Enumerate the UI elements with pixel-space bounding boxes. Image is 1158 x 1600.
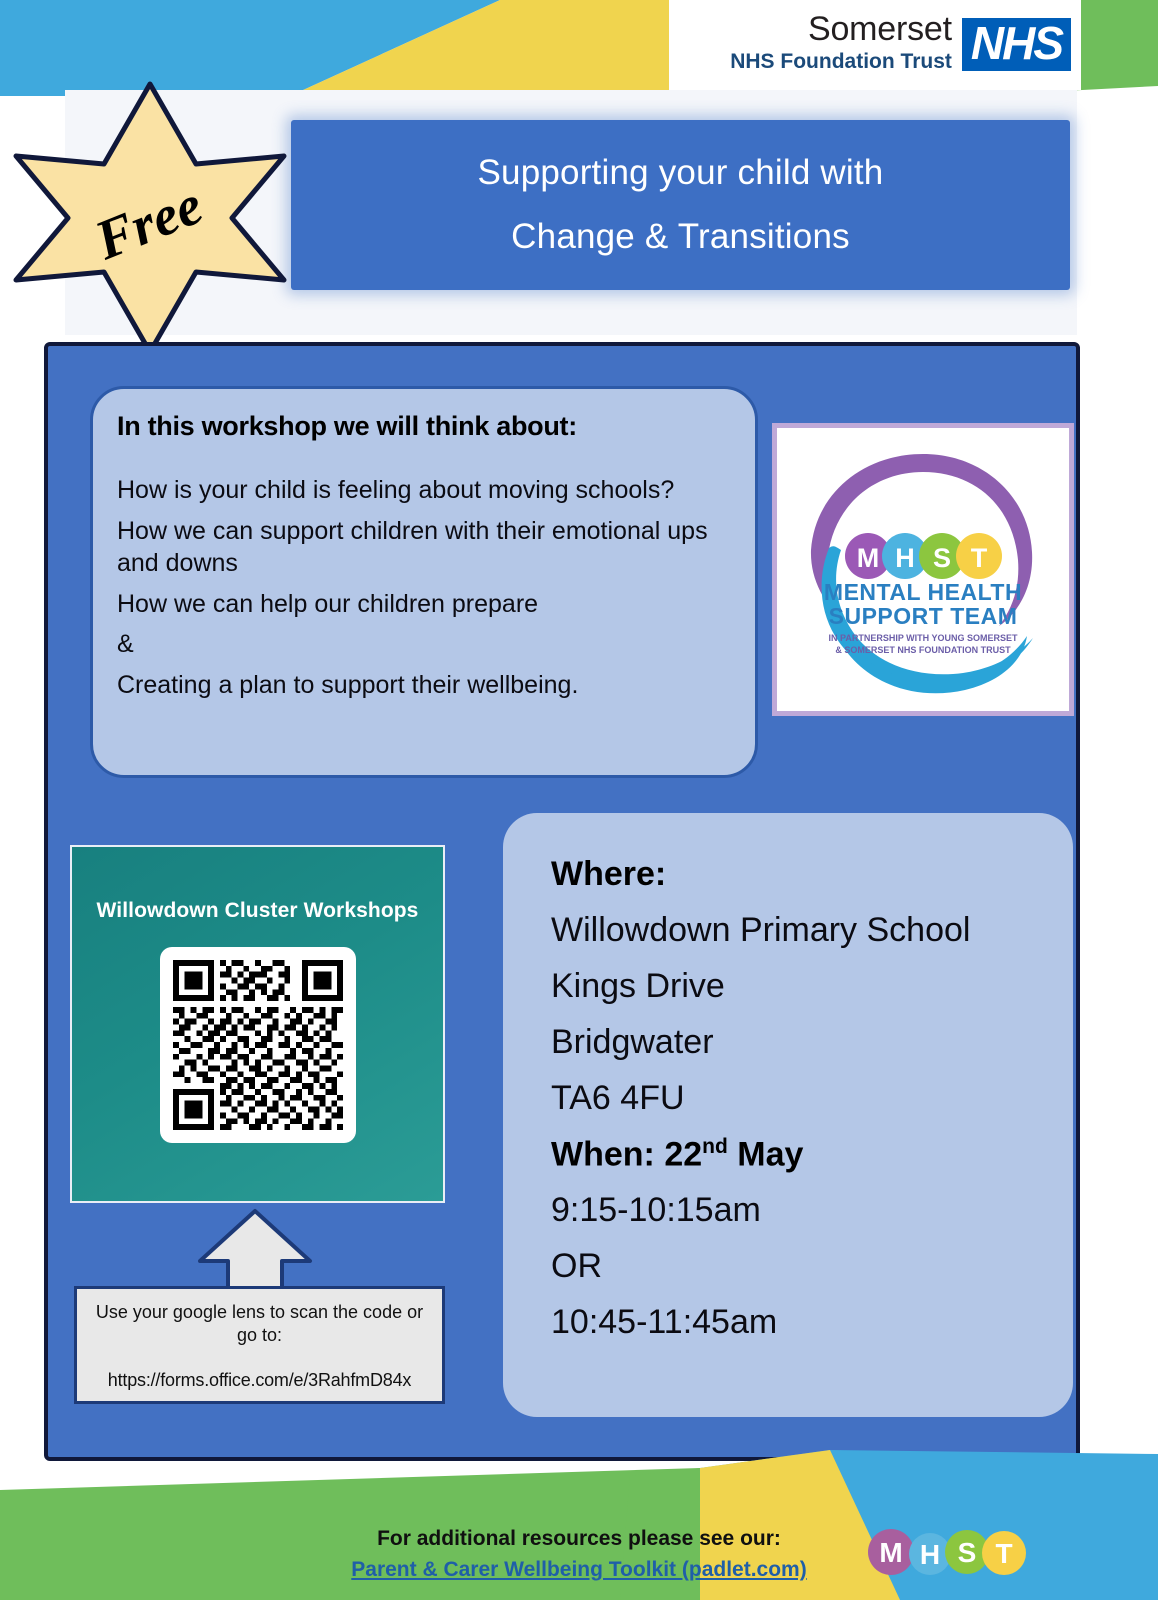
poster-title-banner: Supporting your child with Change & Tran… [291,120,1070,290]
workshop-topics-card: In this workshop we will think about: Ho… [90,386,758,778]
svg-text:& SOMERSET NHS FOUNDATION TRUS: & SOMERSET NHS FOUNDATION TRUST [835,645,1011,655]
svg-text:S: S [958,1537,977,1568]
where-when-card: Where: Willowdown Primary School Kings D… [503,813,1073,1417]
svg-text:H: H [895,543,915,573]
qr-code-image[interactable] [160,947,356,1143]
padlet-toolkit-link[interactable]: Parent & Carer Wellbeing Toolkit (padlet… [351,1558,806,1582]
qr-panel-caption: Willowdown Cluster Workshops [72,899,443,923]
venue-postcode: TA6 4FU [551,1079,1073,1118]
form-url[interactable]: https://forms.office.com/e/3RahfmD84x [91,1370,428,1391]
venue-name: Willowdown Primary School [551,911,1073,950]
svg-text:S: S [933,543,951,573]
svg-text:IN PARTNERSHIP WITH YOUNG SOME: IN PARTNERSHIP WITH YOUNG SOMERSET [828,633,1018,643]
workshop-line: Creating a plan to support their wellbei… [117,669,729,702]
qr-code-panel: Willowdown Cluster Workshops [70,845,445,1203]
when-ordinal: nd [702,1135,728,1158]
workshop-heading: In this workshop we will think about: [117,411,729,442]
free-badge: Free [10,78,290,358]
title-line-1: Supporting your child with [478,153,884,193]
when-label: When: [551,1135,655,1173]
nhs-logo: Somerset NHS Foundation Trust NHS [669,0,1081,90]
workshop-line: How is your child is feeling about movin… [117,474,729,507]
svg-text:H: H [920,1539,940,1570]
qr-code-icon [173,960,343,1130]
svg-text:T: T [971,543,988,573]
venue-street: Kings Drive [551,967,1073,1006]
nhs-somerset-text: Somerset [730,12,952,46]
mhst-logo-icon: M H S T MENTAL HEALTH SUPPORT TEAM IN PA… [777,428,1069,711]
scan-instruction-box: Use your google lens to scan the code or… [74,1286,445,1404]
scan-instruction-line-1: Use your google lens to scan the code or [91,1301,428,1324]
nhs-wordmark: NHS [962,18,1071,71]
workshop-line: & [117,628,729,661]
session-time-1: 9:15-10:15am [551,1191,1073,1230]
nhs-trust-text: NHS Foundation Trust [730,49,952,75]
where-label: Where: [551,855,1073,894]
venue-town: Bridgwater [551,1023,1073,1062]
svg-text:T: T [995,1538,1012,1569]
session-or-label: OR [551,1247,1073,1286]
svg-text:M: M [857,543,880,573]
when-month: May [737,1135,803,1173]
session-time-2: 10:45-11:45am [551,1303,1073,1342]
mhst-logo-card: M H S T MENTAL HEALTH SUPPORT TEAM IN PA… [772,423,1074,716]
svg-text:MENTAL HEALTH: MENTAL HEALTH [824,579,1022,605]
when-day: 22 [664,1135,702,1173]
mhst-footer-logo-icon: M H S T [862,1516,1032,1582]
workshop-line: How we can support children with their e… [117,515,729,580]
workshop-line: How we can help our children prepare [117,588,729,621]
scan-instruction-line-2: go to: [91,1324,428,1347]
svg-text:M: M [879,1537,902,1568]
when-row: When: 22nd May [551,1135,1073,1174]
title-line-2: Change & Transitions [511,217,850,257]
svg-text:SUPPORT TEAM: SUPPORT TEAM [829,603,1018,629]
